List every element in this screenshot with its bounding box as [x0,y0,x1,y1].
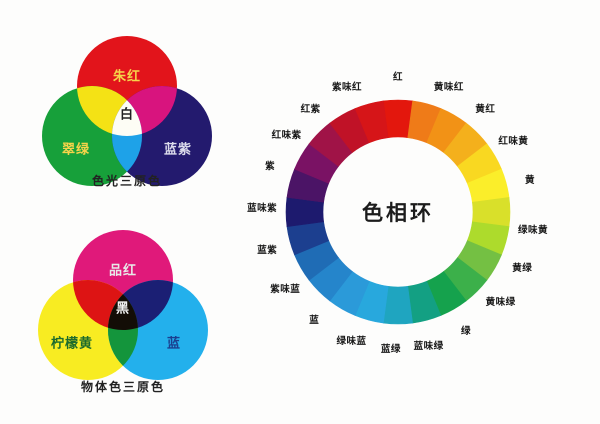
wheel-label-9: 蓝味绿 [414,338,444,352]
additive-venn-diagram: 朱红 翠绿 蓝紫 白 [38,36,216,186]
wheel-label-17: 红味紫 [272,127,302,141]
additive-label-green: 翠绿 [62,143,90,156]
diagram-canvas: 朱红 翠绿 蓝紫 白 色光三原色 品红 柠檬黄 蓝 黑 物体色三原色 [0,0,600,424]
wheel-label-14: 蓝紫 [257,242,277,256]
subtractive-label-yellow: 柠檬黄 [51,337,93,350]
wheel-label-5: 绿味黄 [518,222,548,236]
wheel-label-4: 黄 [525,172,535,186]
color-wheel-center-title: 色相环 [362,197,434,227]
subtractive-label-magenta: 品红 [109,264,137,277]
wheel-label-0: 红 [393,69,403,83]
wheel-label-12: 蓝 [309,312,319,326]
wheel-label-15: 蓝味紫 [247,200,277,214]
wheel-label-18: 红紫 [301,101,321,115]
wheel-label-10: 蓝绿 [381,341,401,355]
wheel-label-6: 黄绿 [512,260,532,274]
wheel-label-16: 紫 [265,158,275,172]
additive-venn-caption: 色光三原色 [92,172,162,189]
wheel-label-3: 红味黄 [498,133,528,147]
additive-label-blue: 蓝紫 [164,143,192,156]
wheel-label-11: 绿味蓝 [336,333,366,347]
subtractive-label-cyan: 蓝 [167,337,181,350]
wheel-label-1: 黄味红 [434,79,464,93]
wheel-label-19: 紫味红 [332,79,362,93]
subtractive-label-black: 黑 [116,302,130,315]
additive-label-red: 朱红 [113,70,141,83]
wheel-label-7: 黄味绿 [486,294,516,308]
wheel-label-2: 黄红 [475,101,495,115]
color-wheel: 色相环 红黄味红黄红红味黄黄绿味黄黄绿黄味绿绿蓝味绿蓝绿绿味蓝蓝紫味蓝蓝紫蓝味紫… [240,54,556,370]
wheel-label-8: 绿 [461,323,471,337]
subtractive-venn-caption: 物体色三原色 [81,378,165,395]
subtractive-venn-diagram: 品红 柠檬黄 蓝 黑 [34,230,212,380]
additive-label-white: 白 [120,108,134,121]
wheel-label-13: 紫味蓝 [270,281,300,295]
